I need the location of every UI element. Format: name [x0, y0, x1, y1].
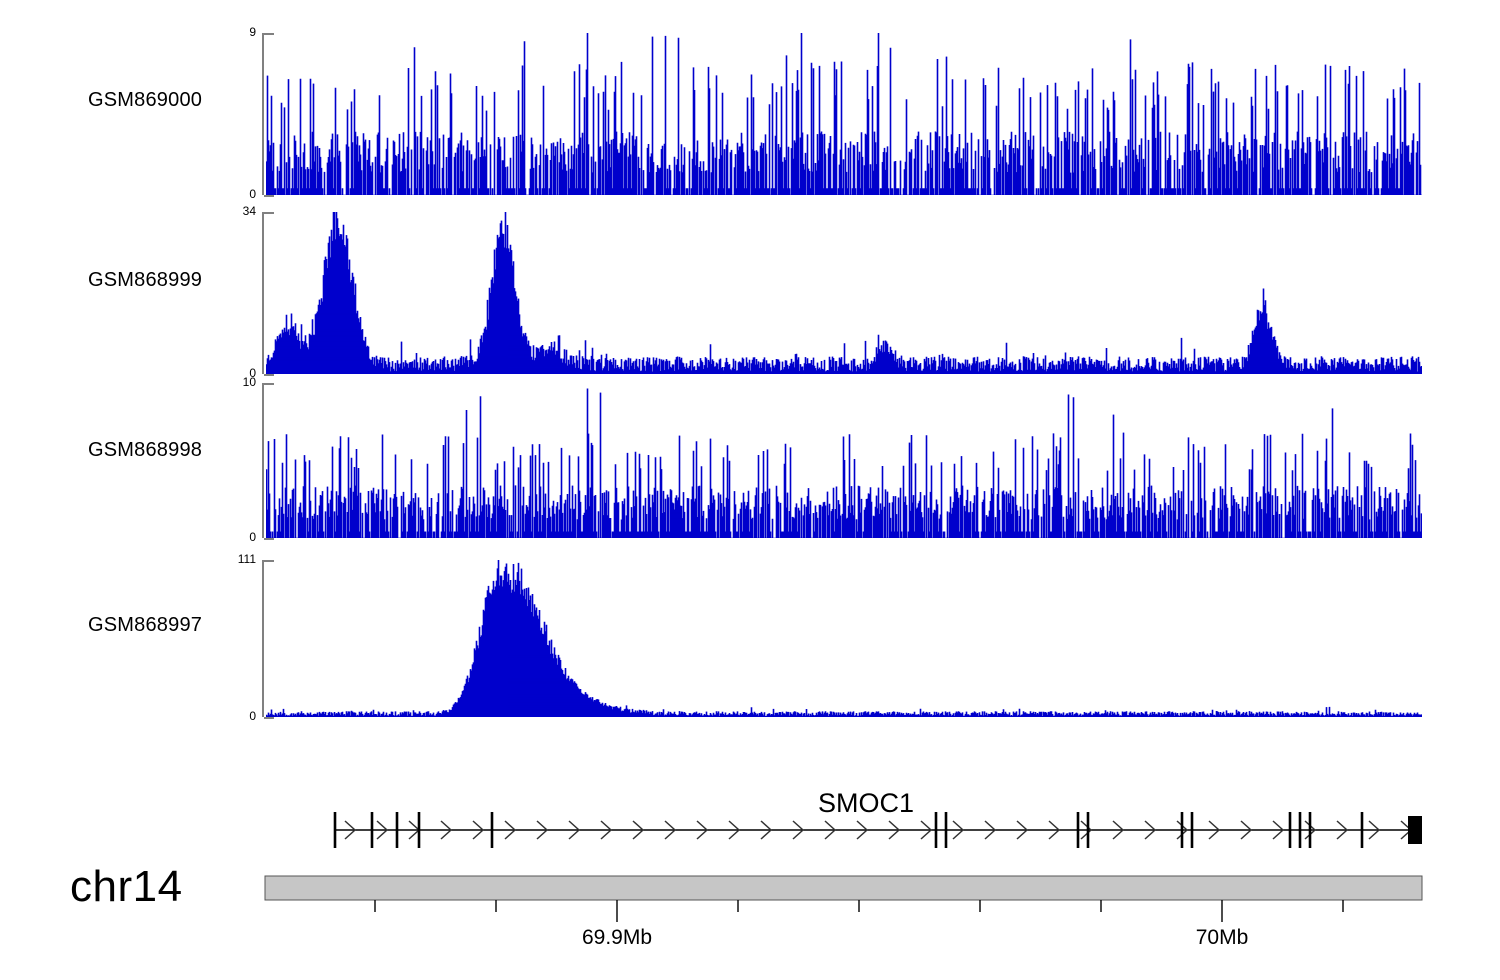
gene-model-track[interactable]: SMOC1 [0, 760, 1500, 875]
signal-profile-gsm868997 [266, 560, 1422, 717]
exon-marker[interactable] [334, 812, 337, 848]
plot-area-gsm868998[interactable] [266, 383, 1422, 538]
exon-marker[interactable] [1289, 812, 1292, 848]
signal-profile-gsm868999 [266, 212, 1422, 374]
exon-marker[interactable] [1077, 812, 1080, 848]
exon-marker[interactable] [1087, 812, 1090, 848]
terminal-exon-block[interactable] [1408, 816, 1422, 844]
plot-area-gsm868999[interactable] [266, 212, 1422, 374]
signal-profile-gsm868998 [266, 383, 1422, 538]
ruler-bar[interactable] [265, 876, 1422, 900]
exon-marker[interactable] [1309, 812, 1312, 848]
exon-marker[interactable] [418, 812, 421, 848]
track-label-gsm868997: GSM868997 [88, 614, 202, 637]
plot-area-gsm869000[interactable] [266, 33, 1422, 195]
axis-max-gsm868999: 34 [200, 204, 256, 218]
coordinate-ruler[interactable]: chr14 69.9Mb70Mb [0, 866, 1500, 980]
exon-marker[interactable] [371, 812, 374, 848]
exon-marker[interactable] [1181, 812, 1184, 848]
axis-max-gsm868997: 111 [200, 552, 256, 566]
exon-marker[interactable] [1361, 812, 1364, 848]
exon-marker[interactable] [1299, 812, 1302, 848]
axis-min-gsm869000: 0 [200, 187, 256, 201]
axis-min-gsm868997: 0 [200, 709, 256, 723]
track-label-gsm869000: GSM869000 [88, 89, 202, 112]
exon-marker[interactable] [945, 812, 948, 848]
axis-max-gsm868998: 10 [200, 375, 256, 389]
exon-marker[interactable] [1191, 812, 1194, 848]
exon-marker[interactable] [396, 812, 399, 848]
axis-max-gsm869000: 9 [200, 25, 256, 39]
ruler-axis[interactable]: 69.9Mb70Mb [0, 866, 1500, 980]
signal-profile-gsm869000 [266, 33, 1422, 195]
genome-browser-view: GSM86900090GSM868999340GSM868998100GSM86… [0, 0, 1500, 980]
ruler-tick-label: 69.9Mb [582, 926, 652, 949]
plot-area-gsm868997[interactable] [266, 560, 1422, 717]
axis-min-gsm868998: 0 [200, 530, 256, 544]
ruler-tick-label: 70Mb [1196, 926, 1249, 949]
track-label-gsm868998: GSM868998 [88, 439, 202, 462]
gene-model-diagram[interactable] [0, 760, 1500, 875]
exon-marker[interactable] [491, 812, 494, 848]
exon-marker[interactable] [935, 812, 938, 848]
track-label-gsm868999: GSM868999 [88, 269, 202, 292]
